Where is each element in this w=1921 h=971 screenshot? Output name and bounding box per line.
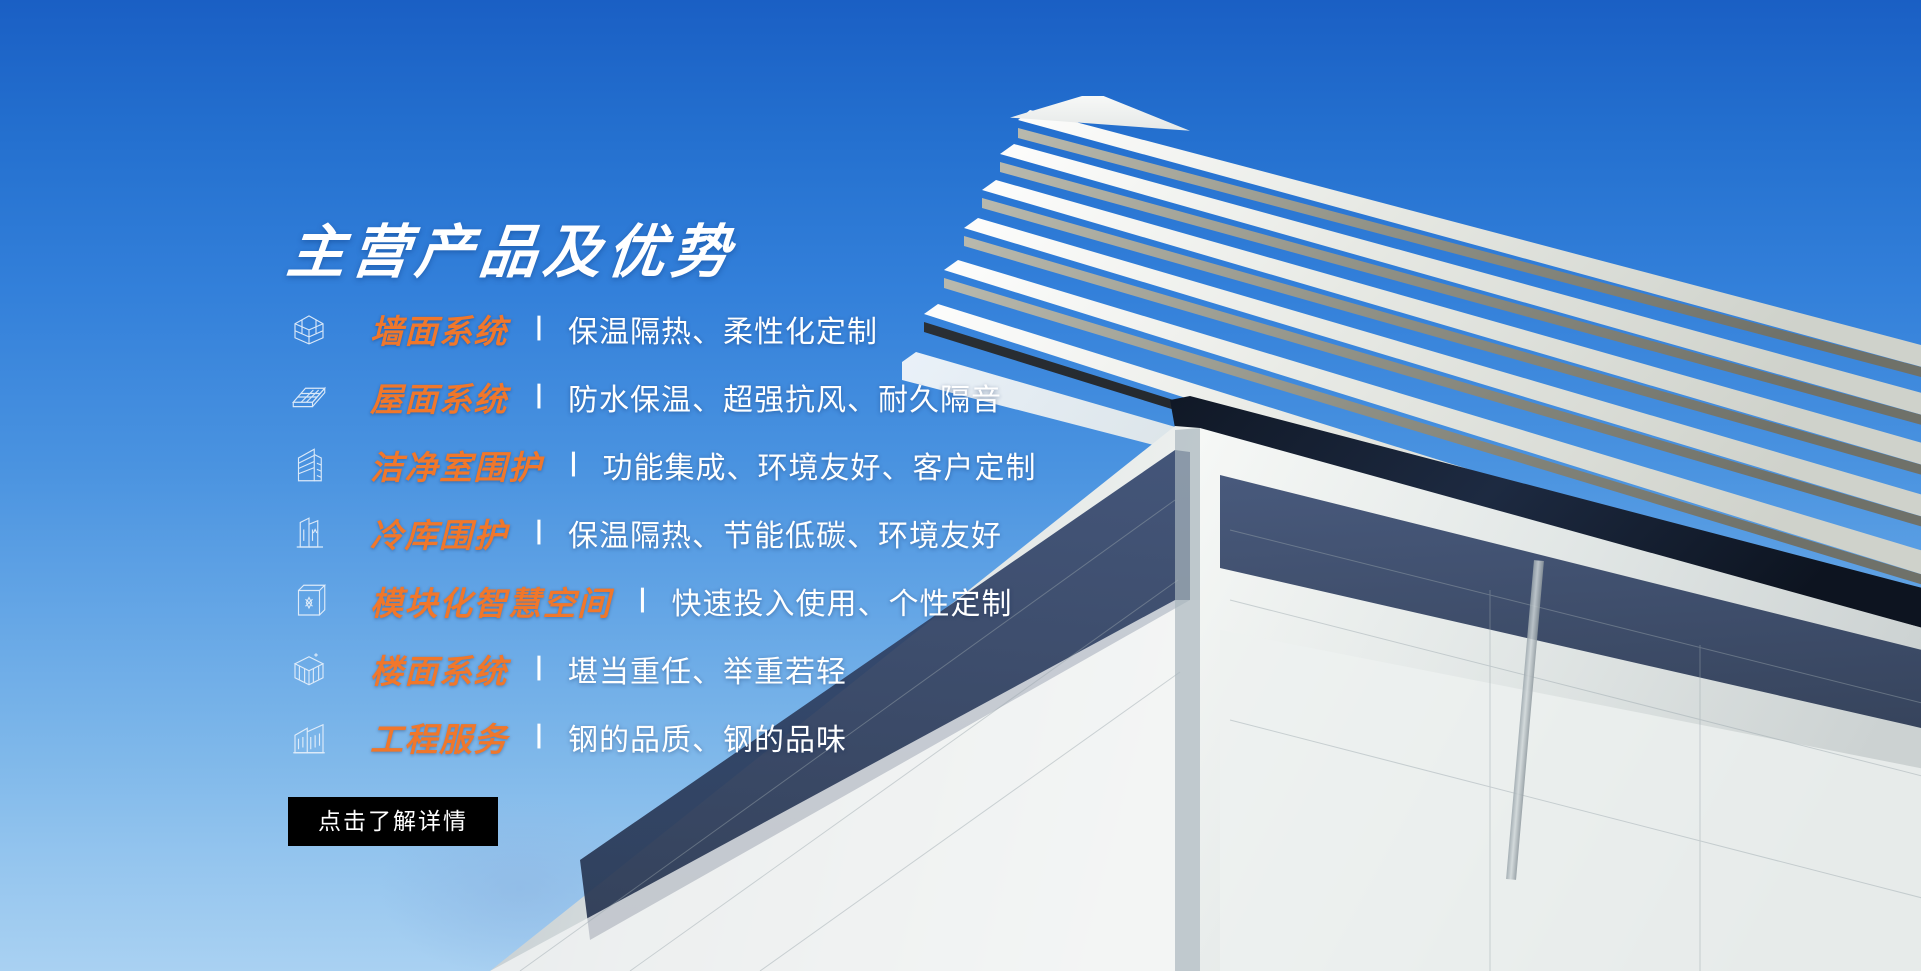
product-list: 墙面系统 丨 保温隔热、柔性化定制 屋面系统 丨 防水保温、超强抗风、耐久隔音 — [288, 300, 1348, 776]
product-category: 模块化智慧空间 — [370, 577, 612, 625]
list-item[interactable]: 屋面系统 丨 防水保温、超强抗风、耐久隔音 — [288, 368, 1348, 426]
separator: 丨 — [526, 717, 552, 754]
banner-content: 主营产品及优势 墙面系统 丨 保温隔热、柔性化定制 — [0, 0, 1921, 971]
engineering-service-icon — [288, 716, 330, 758]
product-description: 堪当重任、举重若轻 — [568, 647, 847, 691]
list-item[interactable]: 楼面系统 丨 堪当重任、举重若轻 — [288, 640, 1348, 698]
product-category: 墙面系统 — [370, 305, 508, 353]
product-category: 屋面系统 — [370, 373, 508, 421]
product-category: 工程服务 — [370, 713, 508, 761]
hero-banner: 主营产品及优势 墙面系统 丨 保温隔热、柔性化定制 — [0, 0, 1921, 971]
list-item[interactable]: 模块化智慧空间 丨 快速投入使用、个性定制 — [288, 572, 1348, 630]
separator: 丨 — [526, 513, 552, 550]
wall-system-icon — [288, 308, 330, 350]
floor-system-icon — [288, 648, 330, 690]
cold-storage-enclosure-icon — [288, 512, 330, 554]
separator: 丨 — [526, 649, 552, 686]
product-description: 快速投入使用、个性定制 — [672, 579, 1013, 623]
modular-smart-space-icon — [288, 580, 330, 622]
list-item[interactable]: 墙面系统 丨 保温隔热、柔性化定制 — [288, 300, 1348, 358]
roof-system-icon — [288, 376, 330, 418]
separator: 丨 — [630, 581, 656, 618]
learn-more-button[interactable]: 点击了解详情 — [288, 797, 498, 846]
separator: 丨 — [526, 309, 552, 346]
product-description: 保温隔热、节能低碳、环境友好 — [568, 511, 1002, 555]
product-category: 洁净室围护 — [370, 441, 543, 489]
product-description: 功能集成、环境友好、客户定制 — [603, 443, 1037, 487]
list-item[interactable]: 冷库围护 丨 保温隔热、节能低碳、环境友好 — [288, 504, 1348, 562]
list-item[interactable]: 洁净室围护 丨 功能集成、环境友好、客户定制 — [288, 436, 1348, 494]
separator: 丨 — [561, 445, 587, 482]
cleanroom-enclosure-icon — [288, 444, 330, 486]
product-category: 楼面系统 — [370, 645, 508, 693]
list-item[interactable]: 工程服务 丨 钢的品质、钢的品味 — [288, 708, 1348, 766]
product-description: 保温隔热、柔性化定制 — [568, 307, 878, 351]
product-description: 防水保温、超强抗风、耐久隔音 — [568, 375, 1002, 419]
page-title: 主营产品及优势 — [284, 205, 741, 289]
product-category: 冷库围护 — [370, 509, 508, 557]
separator: 丨 — [526, 377, 552, 414]
product-description: 钢的品质、钢的品味 — [568, 715, 847, 759]
